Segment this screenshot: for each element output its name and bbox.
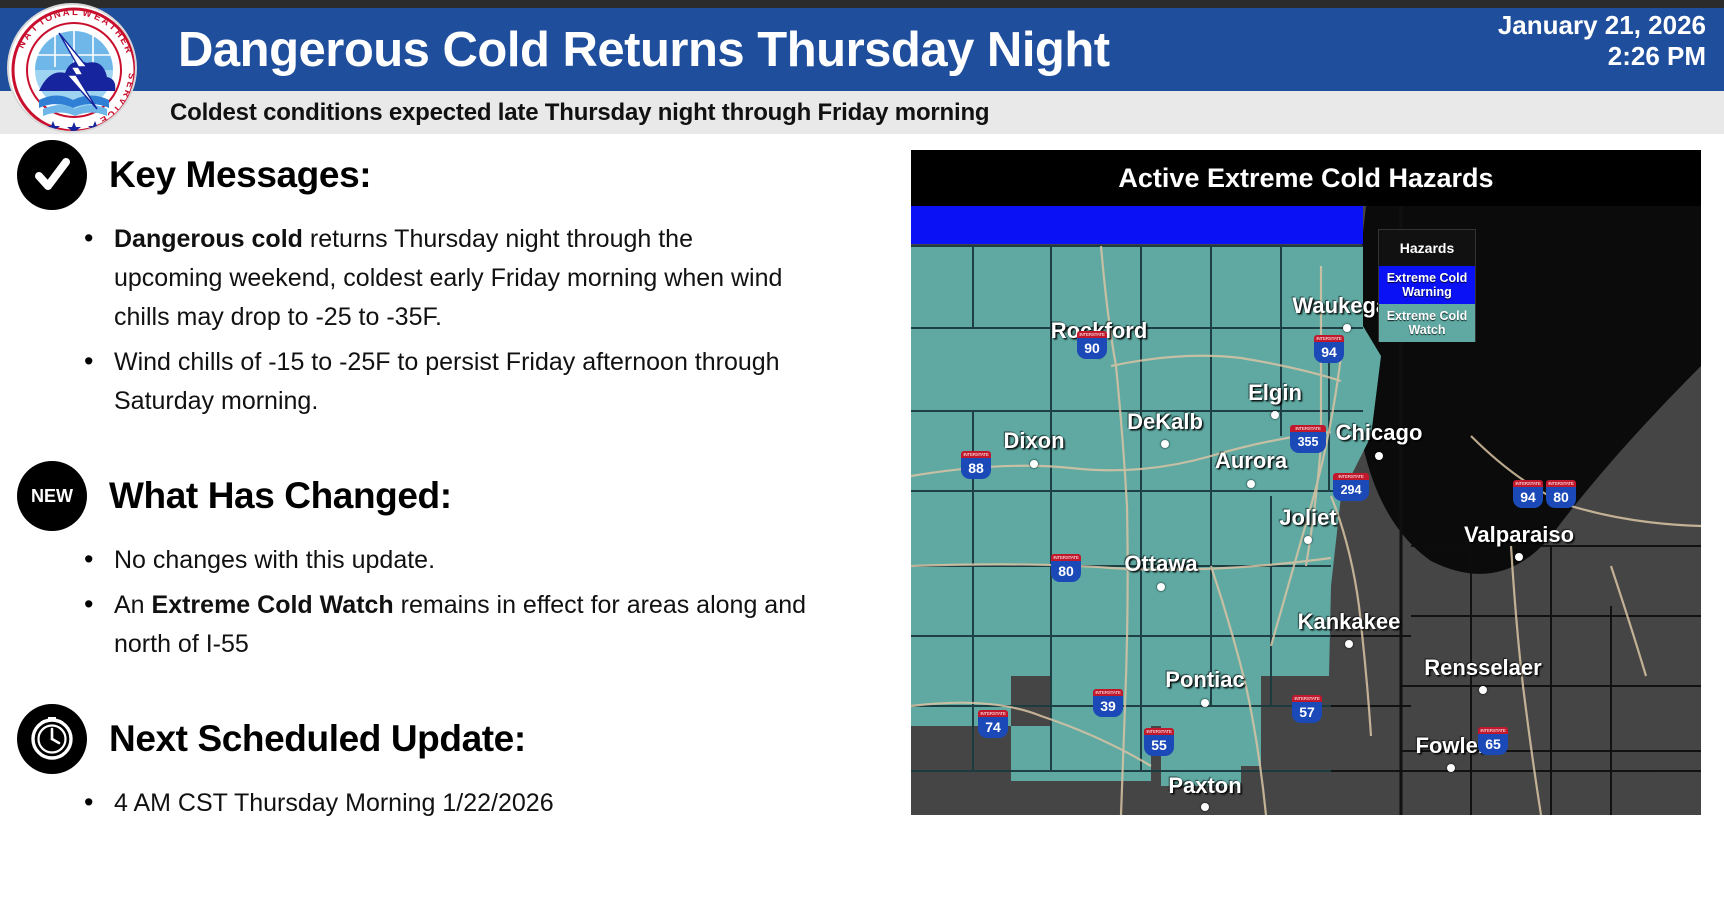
legend-title: Hazards — [1379, 230, 1475, 266]
list-item: An Extreme Cold Watch remains in effect … — [78, 586, 808, 664]
city-label: Valparaiso — [1464, 522, 1574, 548]
hazard-map[interactable]: Active Extreme Cold Hazards — [911, 150, 1701, 815]
city-dot — [1447, 764, 1455, 772]
page-title: Dangerous Cold Returns Thursday Night — [178, 12, 1308, 88]
city-label: Kankakee — [1298, 609, 1401, 635]
nws-logo: N A T I O N A L W E A T H E R S E R V I — [7, 3, 137, 133]
svg-text:L: L — [72, 7, 78, 18]
bullet-prefix: An — [114, 591, 152, 619]
city-label: Rensselaer — [1424, 655, 1541, 681]
issue-datetime: January 21, 2026 2:26 PM — [1446, 10, 1706, 72]
page-subtitle: Coldest conditions expected late Thursda… — [170, 92, 989, 134]
weather-graphic: N A T I O N A L W E A T H E R S E R V I — [0, 0, 1724, 898]
city-dot — [1479, 686, 1487, 694]
city-dot — [1343, 324, 1351, 332]
list-item: Wind chills of -15 to -25F to persist Fr… — [78, 343, 808, 421]
interstate-shield-94: INTERSTATE94 — [1314, 335, 1344, 363]
city-label: Chicago — [1336, 420, 1423, 446]
city-label: Elgin — [1248, 380, 1302, 406]
city-label: Paxton — [1168, 773, 1241, 799]
interstate-shield-65: INTERSTATE65 — [1478, 727, 1508, 755]
list-item: 4 AM CST Thursday Morning 1/22/2026 — [78, 784, 808, 823]
new-badge-icon: NEW — [17, 461, 87, 531]
section-what-has-changed: NEW What Has Changed: No changes with th… — [0, 461, 900, 664]
key-messages-list: Dangerous cold returns Thursday night th… — [78, 220, 808, 421]
bullet-bold: Extreme Cold Watch — [152, 591, 394, 619]
city-dot — [1247, 480, 1255, 488]
city-label: Joliet — [1279, 505, 1336, 531]
city-label: Ottawa — [1124, 551, 1197, 577]
bullet-text: No changes with this update. — [114, 546, 435, 574]
interstate-shield-355: INTERSTATE355 — [1290, 425, 1326, 453]
legend-item-warning: Extreme Cold Warning — [1379, 266, 1475, 304]
clock-icon — [17, 704, 87, 774]
section-title: What Has Changed: — [109, 475, 452, 517]
next-update-list: 4 AM CST Thursday Morning 1/22/2026 — [78, 784, 808, 823]
section-next-update: Next Scheduled Update: 4 AM CST Thursday… — [0, 704, 900, 823]
city-dot — [1304, 536, 1312, 544]
map-title: Active Extreme Cold Hazards — [911, 150, 1701, 206]
svg-text:S: S — [125, 72, 137, 79]
interstate-shield-90: INTERSTATE90 — [1077, 331, 1107, 359]
city-dot — [1201, 699, 1209, 707]
list-item: No changes with this update. — [78, 541, 808, 580]
interstate-shield-80: INTERSTATE80 — [1051, 554, 1081, 582]
city-label: Pontiac — [1165, 667, 1244, 693]
checkmark-icon — [17, 140, 87, 210]
city-dot — [1201, 803, 1209, 811]
section-title: Next Scheduled Update: — [109, 718, 526, 760]
city-label: Fowler — [1416, 733, 1487, 759]
city-dot — [1345, 640, 1353, 648]
legend-item-watch: Extreme Cold Watch — [1379, 304, 1475, 342]
what-has-changed-list: No changes with this update. An Extreme … — [78, 541, 808, 664]
bullet-bold: Dangerous cold — [114, 225, 303, 253]
new-badge-label: NEW — [31, 486, 73, 507]
interstate-shield-39: INTERSTATE39 — [1093, 689, 1123, 717]
top-stripe — [0, 0, 1724, 8]
warning-region — [911, 206, 1363, 244]
city-dot — [1030, 460, 1038, 468]
city-dot — [1375, 452, 1383, 460]
interstate-shield-57: INTERSTATE57 — [1292, 695, 1322, 723]
bullet-text: Wind chills of -15 to -25F to persist Fr… — [114, 348, 780, 415]
city-label: DeKalb — [1127, 409, 1203, 435]
interstate-shield-74: INTERSTATE74 — [978, 710, 1008, 738]
bullet-text: 4 AM CST Thursday Morning 1/22/2026 — [114, 789, 554, 817]
city-dot — [1271, 411, 1279, 419]
city-dot — [1157, 583, 1165, 591]
city-label: Aurora — [1215, 448, 1287, 474]
city-dot — [1161, 440, 1169, 448]
city-label: Dixon — [1003, 428, 1064, 454]
section-title: Key Messages: — [109, 154, 371, 196]
list-item: Dangerous cold returns Thursday night th… — [78, 220, 808, 337]
section-key-messages: Key Messages: Dangerous cold returns Thu… — [0, 140, 900, 421]
interstate-shield-80: INTERSTATE80 — [1546, 480, 1576, 508]
city-dot — [1515, 553, 1523, 561]
issue-time: 2:26 PM — [1446, 41, 1706, 72]
issue-date: January 21, 2026 — [1446, 10, 1706, 41]
messages-column: Key Messages: Dangerous cold returns Thu… — [0, 140, 900, 898]
map-legend: Hazards Extreme Cold Warning Extreme Col… — [1378, 229, 1476, 342]
interstate-shield-294: INTERSTATE294 — [1333, 473, 1369, 501]
interstate-shield-94: INTERSTATE94 — [1513, 480, 1543, 508]
interstate-shield-55: INTERSTATE55 — [1144, 728, 1174, 756]
interstate-shield-88: INTERSTATE88 — [961, 451, 991, 479]
